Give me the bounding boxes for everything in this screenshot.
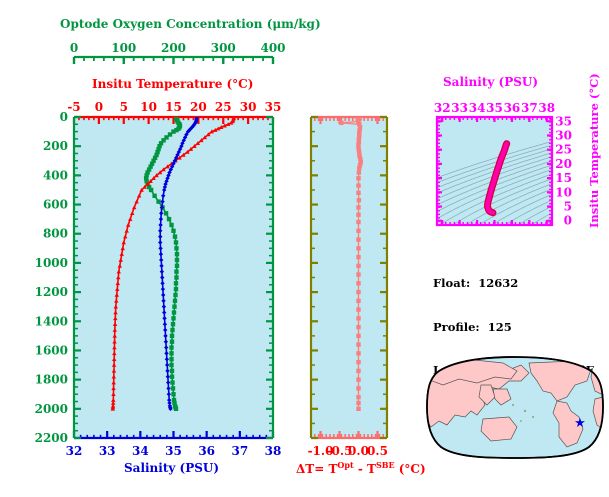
svg-text:2200: 2200 (35, 431, 68, 445)
svg-text:30: 30 (555, 128, 572, 142)
svg-text:1800: 1800 (35, 373, 68, 387)
svg-text:1400: 1400 (35, 314, 68, 328)
svg-text:36: 36 (504, 101, 521, 115)
svg-text:25: 25 (215, 100, 232, 114)
svg-text:5: 5 (120, 100, 128, 114)
svg-text:0: 0 (95, 100, 103, 114)
svg-text:1200: 1200 (35, 285, 68, 299)
svg-text:37: 37 (521, 101, 538, 115)
delta-t-plot: -1.0-0.50.00.5 (290, 0, 420, 497)
svg-text:5: 5 (564, 200, 572, 214)
temperature-tick-labels: -505101520253035 (67, 100, 281, 114)
svg-text:20: 20 (190, 100, 207, 114)
ts-diagram-plot: 32333435363738 05101520253035 (420, 90, 609, 240)
svg-text:35: 35 (265, 100, 282, 114)
svg-text:1600: 1600 (35, 343, 68, 357)
svg-text:10: 10 (555, 185, 572, 199)
profile-label: Profile: (433, 320, 480, 334)
svg-text:800: 800 (43, 227, 68, 241)
svg-text:37: 37 (231, 444, 248, 458)
figure-root: Optode Oxygen Concentration (μm/kg) Insi… (0, 0, 609, 497)
svg-text:300: 300 (211, 41, 236, 55)
main-profile-plot: 0100200300400 -505101520253035 323334353… (0, 0, 300, 497)
svg-text:32: 32 (66, 444, 83, 458)
svg-text:1000: 1000 (35, 256, 68, 270)
delta-title-part2: - T (354, 462, 376, 476)
profile-value: 125 (488, 320, 512, 334)
svg-text:35: 35 (165, 444, 182, 458)
svg-text:35: 35 (486, 101, 503, 115)
svg-text:100: 100 (111, 41, 136, 55)
svg-text:0: 0 (60, 110, 68, 124)
oxygen-axis (74, 57, 273, 64)
float-label: Float: (433, 276, 470, 290)
float-location-star-icon: ★ (574, 416, 586, 431)
delta-axis-title: ΔT= TOpt - TSBE (°C) (296, 461, 426, 475)
svg-text:34: 34 (132, 444, 149, 458)
svg-text:38: 38 (265, 444, 282, 458)
svg-text:2000: 2000 (35, 402, 68, 416)
float-value: 12632 (478, 276, 518, 290)
metadata-profile: Profile: 125 (433, 320, 595, 335)
svg-text:-5: -5 (67, 100, 80, 114)
svg-text:34: 34 (469, 101, 486, 115)
svg-text:200: 200 (43, 139, 68, 153)
svg-text:0.5: 0.5 (367, 444, 388, 458)
world-map: ★ (425, 355, 605, 460)
svg-text:15: 15 (165, 100, 182, 114)
pressure-tick-labels: 0200400600800100012001400160018002000220… (35, 110, 68, 445)
salinity-tick-labels: 32333435363738 (66, 444, 282, 458)
svg-text:33: 33 (451, 101, 468, 115)
svg-text:20: 20 (555, 157, 572, 171)
metadata-float: Float: 12632 (433, 276, 595, 291)
ts-salinity-title: Salinity (PSU) (443, 76, 538, 88)
delta-tick-labels: -1.0-0.50.00.5 (308, 444, 388, 458)
svg-text:15: 15 (555, 171, 572, 185)
oxygen-tick-labels: 0100200300400 (70, 41, 286, 55)
svg-text:400: 400 (43, 168, 68, 182)
svg-text:400: 400 (260, 41, 285, 55)
svg-text:0: 0 (70, 41, 78, 55)
delta-panel-background (311, 117, 387, 438)
svg-text:25: 25 (555, 143, 572, 157)
svg-text:200: 200 (161, 41, 186, 55)
svg-text:38: 38 (538, 101, 555, 115)
svg-text:32: 32 (434, 101, 451, 115)
svg-text:33: 33 (99, 444, 116, 458)
delta-title-sup-opt: Opt (337, 460, 353, 470)
svg-text:0.0: 0.0 (348, 444, 369, 458)
delta-title-part1: ΔT= T (296, 462, 337, 476)
delta-title-part3: (°C) (395, 462, 426, 476)
svg-text:35: 35 (555, 114, 572, 128)
svg-text:600: 600 (43, 198, 68, 212)
svg-text:36: 36 (198, 444, 215, 458)
delta-title-sup-sbe: SBE (376, 460, 395, 470)
svg-text:30: 30 (240, 100, 257, 114)
ts-salinity-tick-labels: 32333435363738 (434, 101, 555, 115)
svg-text:10: 10 (140, 100, 157, 114)
ts-temperature-tick-labels: 05101520253035 (555, 114, 572, 227)
svg-text:0: 0 (564, 214, 572, 228)
